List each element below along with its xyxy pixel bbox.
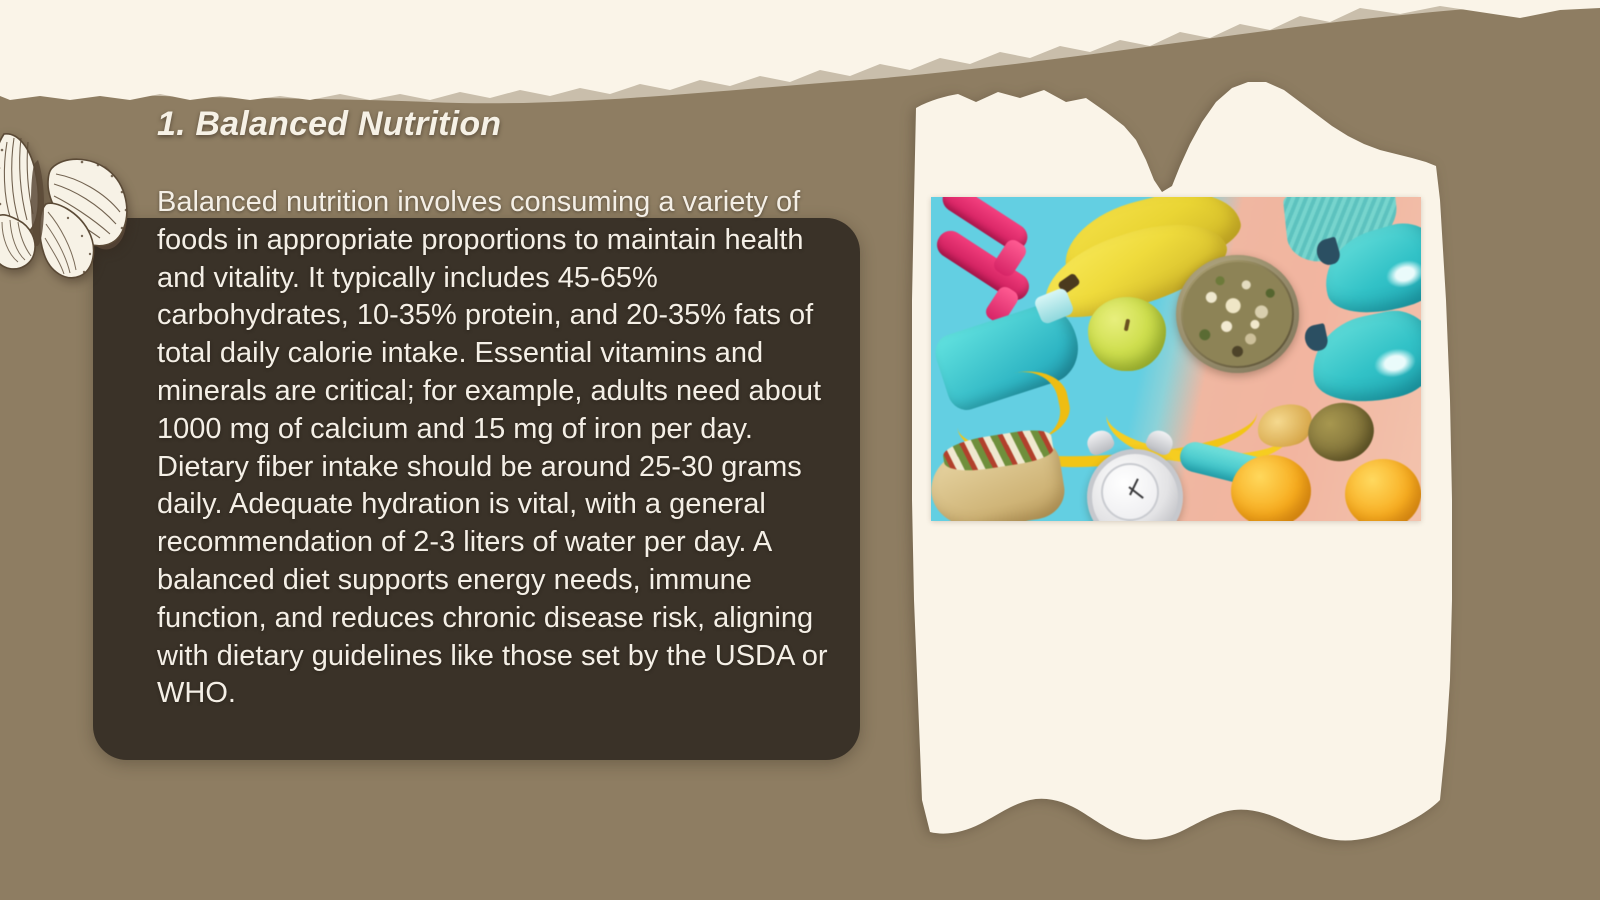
photo-canvas — [931, 197, 1421, 521]
nutrition-flatlay-photo — [931, 197, 1421, 521]
muesli-bowl-icon — [1176, 255, 1299, 373]
orange-fruit-icon — [1231, 455, 1311, 521]
body-paragraph: Balanced nutrition involves consuming a … — [157, 184, 829, 713]
slide-canvas: 1. Balanced Nutrition Balanced nutrition… — [0, 0, 1600, 900]
page-title: 1. Balanced Nutrition — [157, 105, 501, 144]
kiwi-icon — [1303, 397, 1380, 467]
orange-fruit-icon — [1345, 459, 1421, 521]
butterfly-icon — [0, 108, 142, 280]
